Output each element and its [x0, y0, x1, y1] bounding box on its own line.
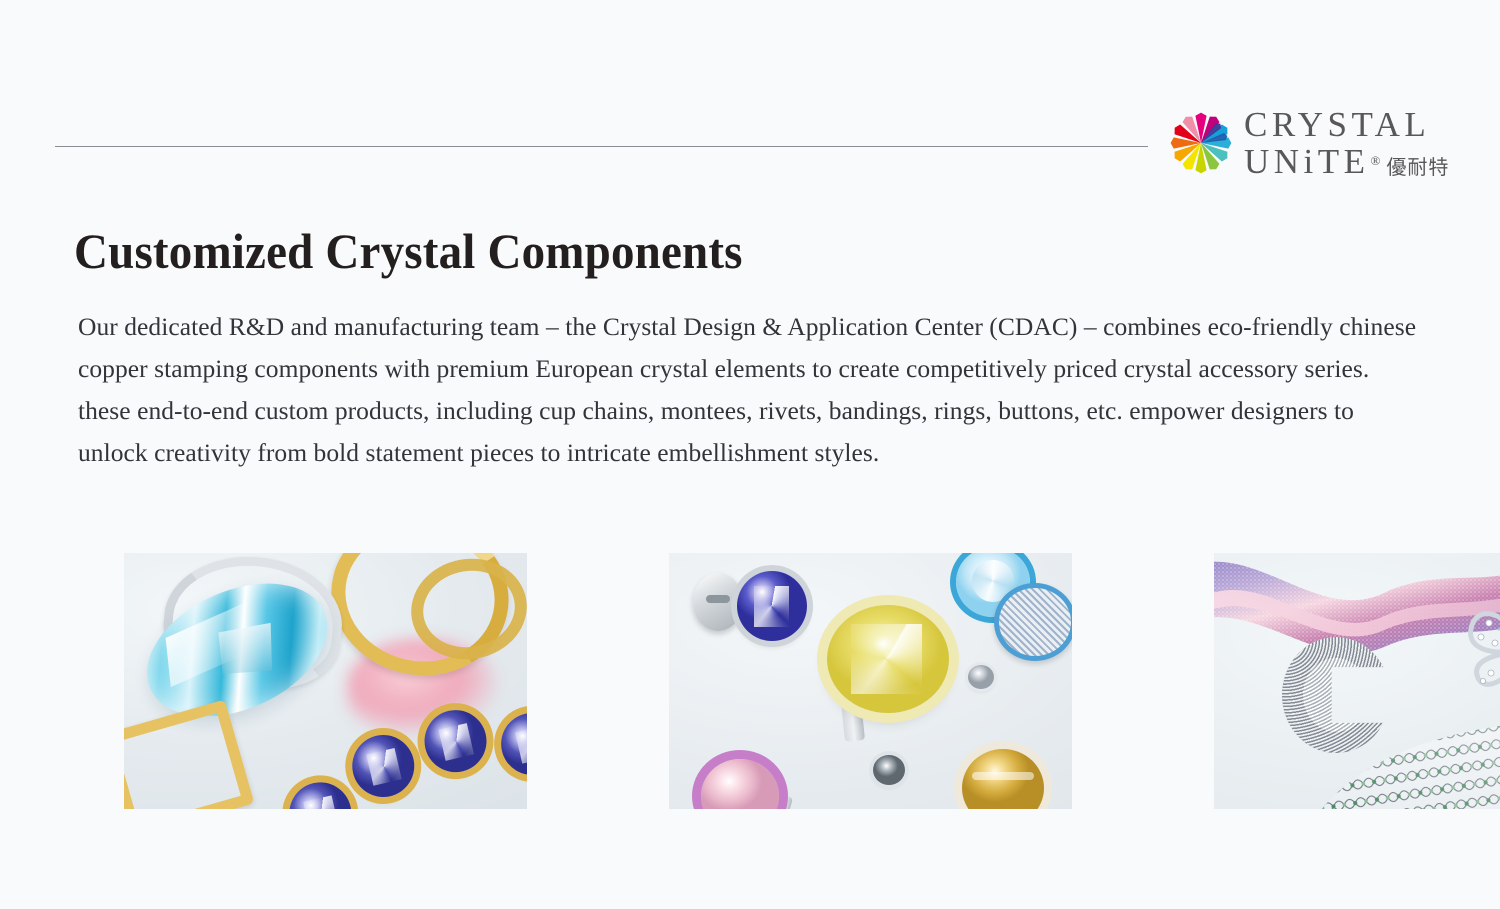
- cup-chain-stone: [418, 704, 492, 778]
- gallery-image-1[interactable]: [124, 553, 527, 809]
- mesh-disc: [994, 583, 1072, 661]
- yellow-crystal-rivet: [827, 605, 949, 713]
- product-image-gallery: [84, 537, 1416, 793]
- brand-name-line-2: UNiTE: [1244, 144, 1370, 179]
- header-divider: [55, 146, 1148, 147]
- cup-chain-stone: [283, 776, 357, 809]
- crystal-mesh-banding: [1297, 669, 1500, 809]
- color-wheel-flower-icon: [1170, 112, 1232, 174]
- blue-crystal-rivet: [737, 571, 807, 641]
- gallery-image-3[interactable]: [1214, 553, 1500, 809]
- registered-trademark-icon: ®: [1371, 154, 1381, 167]
- brand-name-line-1: CRYSTAL: [1244, 107, 1449, 142]
- cup-chain-stone: [495, 707, 527, 781]
- metal-snap-small: [968, 665, 994, 689]
- gallery-image-2[interactable]: [669, 553, 1072, 809]
- silver-shank-button: [693, 573, 743, 631]
- metal-snap-medium: [873, 755, 905, 785]
- brand-wordmark: CRYSTAL UNiTE ® 優耐特: [1244, 107, 1449, 179]
- page-title: Customized Crystal Components: [74, 222, 743, 280]
- body-paragraph: Our dedicated R&D and manufacturing team…: [78, 306, 1428, 474]
- brand-chinese-name: 優耐特: [1386, 157, 1449, 177]
- page-header: CRYSTAL UNiTE ® 優耐特: [0, 0, 1500, 190]
- cup-chain-stone: [346, 729, 420, 803]
- brand-logo[interactable]: CRYSTAL UNiTE ® 優耐特: [1170, 104, 1460, 182]
